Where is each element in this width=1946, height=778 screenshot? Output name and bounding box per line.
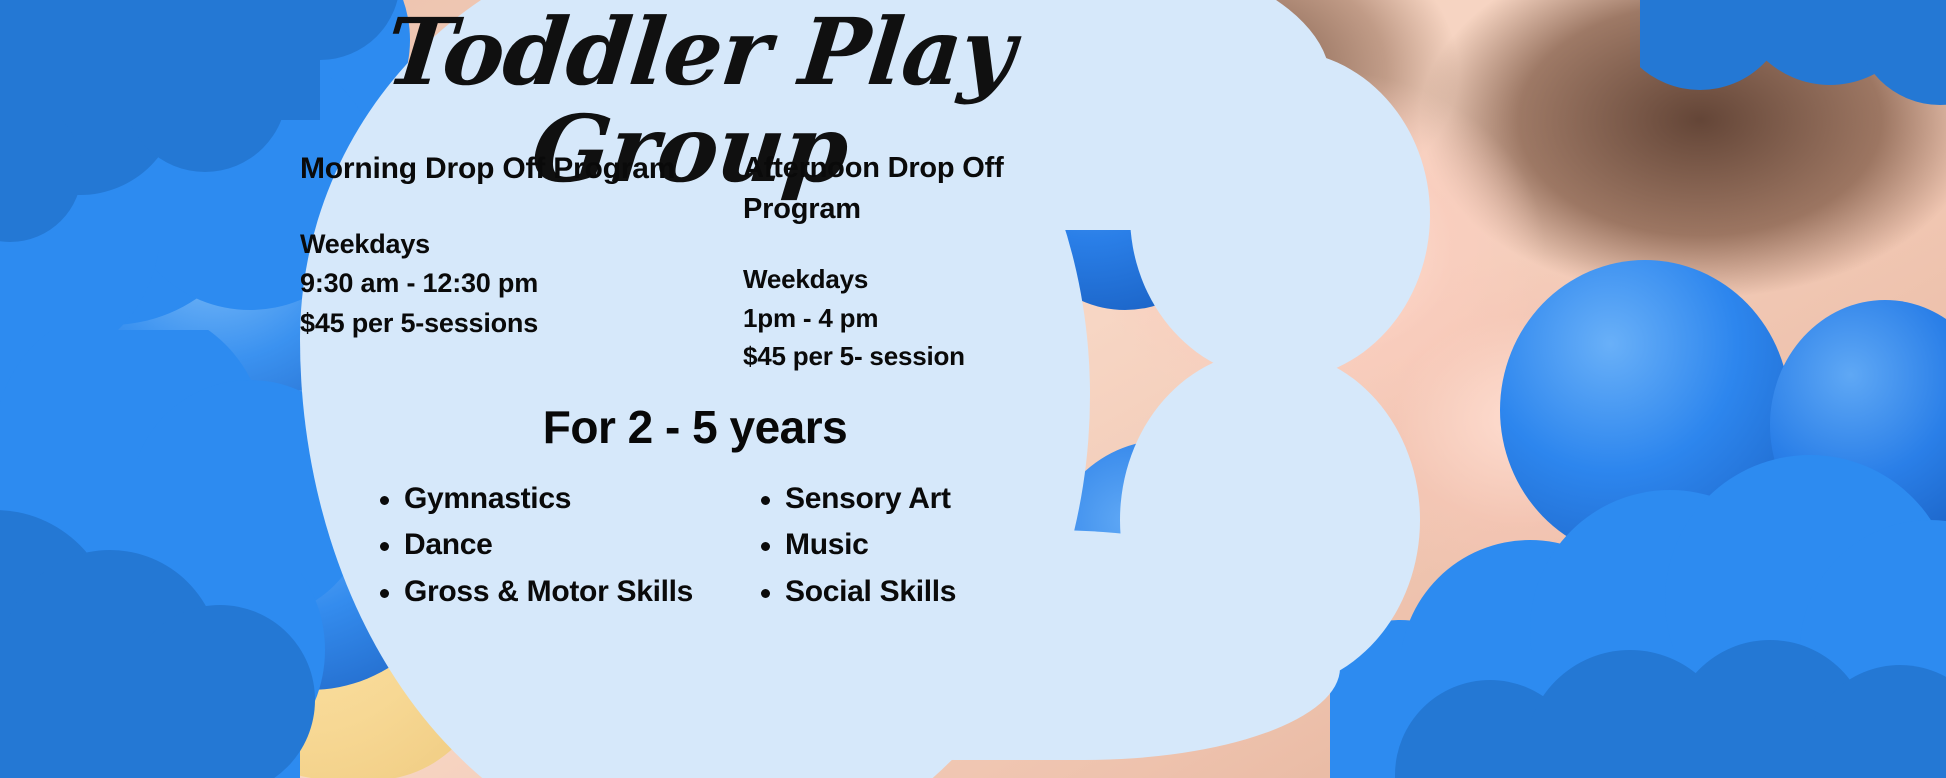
bullet-dot-icon [380,589,389,598]
program-time: 9:30 am - 12:30 pm [300,264,681,304]
age-range-headline: For 2 - 5 years [300,400,1090,454]
program-name: Afternoon Drop Off Program [743,148,1076,230]
list-item: Music [759,526,1090,564]
activities-left-column: Gymnastics Dance Gross & Motor Skills [300,480,695,619]
list-item: Dance [378,526,695,564]
list-item: Social Skills [759,573,1090,611]
blue-ball [1500,260,1790,560]
program-schedule: Weekdays 9:30 am - 12:30 pm $45 per 5-se… [300,225,681,344]
activity-label: Sensory Art [785,482,951,515]
bullet-dot-icon [380,496,389,505]
bullet-dot-icon [380,542,389,551]
program-schedule: Weekdays 1pm - 4 pm $45 per 5- session [743,260,1076,375]
activity-label: Gross & Motor Skills [404,575,693,608]
poster-content: Toddler Play Group Morning Drop Off Prog… [300,0,1090,778]
card-lobe [1130,50,1430,380]
bullet-dot-icon [761,542,770,551]
activities-right-column: Sensory Art Music Social Skills [695,480,1090,619]
list-item: Sensory Art [759,480,1090,518]
activity-label: Social Skills [785,575,956,608]
white-ball [1390,600,1690,778]
afternoon-program-column: Afternoon Drop Off Program Weekdays 1pm … [695,148,1090,375]
bullet-dot-icon [761,496,770,505]
activity-label: Gymnastics [404,482,571,515]
blue-ball [1770,300,1946,550]
program-days: Weekdays [300,225,681,265]
activity-label: Music [785,528,869,561]
bullet-dot-icon [761,589,770,598]
list-item: Gymnastics [378,480,695,518]
activities-lists: Gymnastics Dance Gross & Motor Skills [300,480,1090,619]
morning-program-column: Morning Drop Off Program Weekdays 9:30 a… [300,148,695,375]
activities-list: Sensory Art Music Social Skills [759,480,1090,611]
program-days: Weekdays [743,260,1076,298]
list-item: Gross & Motor Skills [378,573,695,611]
program-columns: Morning Drop Off Program Weekdays 9:30 a… [300,148,1090,375]
activity-label: Dance [404,528,493,561]
program-price: $45 per 5- session [743,337,1076,375]
activities-list: Gymnastics Dance Gross & Motor Skills [378,480,695,611]
program-name: Morning Drop Off Program [300,148,681,191]
toddler-play-group-poster: Toddler Play Group Morning Drop Off Prog… [0,0,1946,778]
program-price: $45 per 5-sessions [300,304,681,344]
program-time: 1pm - 4 pm [743,299,1076,337]
